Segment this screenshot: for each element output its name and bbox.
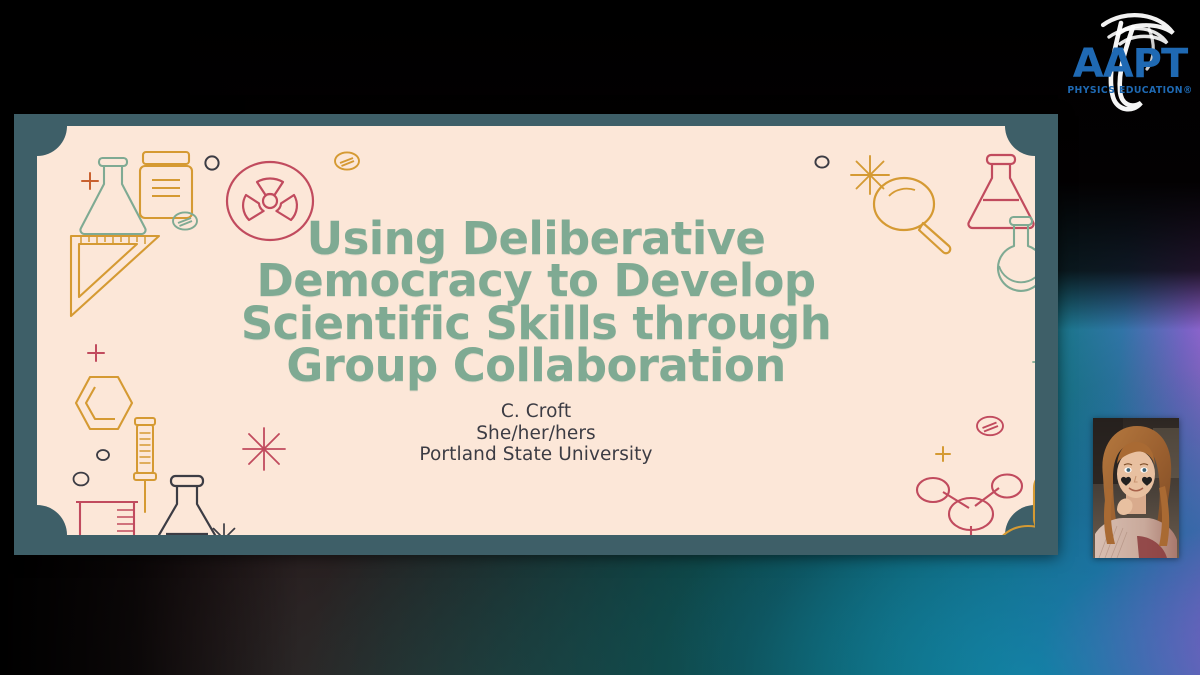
molecule-icon bbox=[913, 464, 1029, 535]
capsule-pill-icon bbox=[1031, 468, 1035, 535]
slide-corner-notch-bottom-right bbox=[1005, 505, 1035, 535]
sparkle-icon bbox=[849, 154, 891, 196]
presentation-slide[interactable]: Using Deliberative Democracy to Develop … bbox=[14, 114, 1058, 555]
presenter-video-thumbnail[interactable] bbox=[1093, 418, 1179, 558]
bubble-circle-icon bbox=[813, 154, 831, 170]
bubble-circle-icon bbox=[71, 470, 91, 488]
presenter-affiliation: Portland State University bbox=[37, 444, 1035, 465]
slide-corner-notch-top-right bbox=[1005, 126, 1035, 156]
pill-tablet-icon bbox=[333, 150, 361, 172]
specimen-jar-icon bbox=[137, 150, 195, 222]
aapt-logo: AAPT PHYSICS EDUCATION® bbox=[1063, 3, 1197, 115]
slide-corner-notch-bottom-left bbox=[37, 505, 67, 535]
presenter-pronouns: She/her/hers bbox=[37, 423, 1035, 444]
slide-title: Using Deliberative Democracy to Develop … bbox=[37, 218, 1035, 387]
presenter-name: C. Croft bbox=[37, 401, 1035, 422]
screen: AAPT PHYSICS EDUCATION® bbox=[0, 0, 1200, 675]
slide-canvas: Using Deliberative Democracy to Develop … bbox=[37, 126, 1035, 535]
bubble-circle-icon bbox=[203, 154, 221, 172]
radioactive-symbol-icon bbox=[991, 524, 1035, 535]
beaker-icon bbox=[73, 498, 141, 535]
aapt-acronym: AAPT bbox=[1073, 41, 1189, 87]
presenter-info: C. Croft She/her/hers Portland State Uni… bbox=[37, 401, 1035, 465]
slide-text-block: Using Deliberative Democracy to Develop … bbox=[37, 218, 1035, 466]
plus-icon bbox=[79, 170, 101, 192]
erlenmeyer-flask-icon bbox=[141, 472, 233, 535]
sparkle-icon bbox=[207, 522, 241, 535]
aapt-tagline: PHYSICS EDUCATION® bbox=[1067, 85, 1192, 96]
slide-corner-notch-top-left bbox=[37, 126, 67, 156]
